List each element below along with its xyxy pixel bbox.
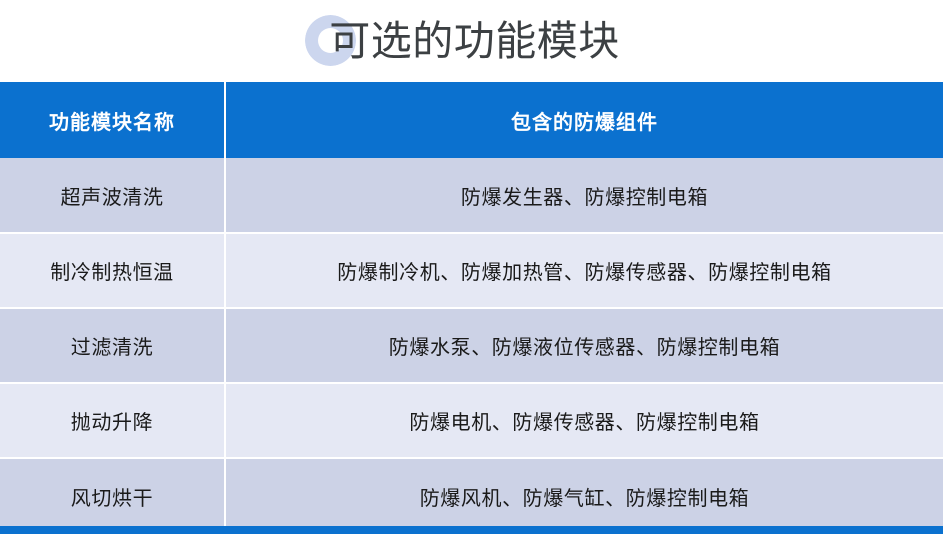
cell-components: 防爆风机、防爆气缸、防爆控制电箱 [225,458,943,533]
table-row: 抛动升降 防爆电机、防爆传感器、防爆控制电箱 [0,383,943,458]
table-row: 制冷制热恒温 防爆制冷机、防爆加热管、防爆传感器、防爆控制电箱 [0,233,943,308]
cell-components: 防爆水泵、防爆液位传感器、防爆控制电箱 [225,308,943,383]
cell-module-name: 制冷制热恒温 [0,233,225,308]
module-table: 功能模块名称 包含的防爆组件 超声波清洗 防爆发生器、防爆控制电箱 制冷制热恒温… [0,82,943,533]
table-header: 功能模块名称 包含的防爆组件 [0,82,943,158]
cell-module-name: 风切烘干 [0,458,225,533]
page-title: 可选的功能模块 [0,0,943,82]
table-row: 风切烘干 防爆风机、防爆气缸、防爆控制电箱 [0,458,943,533]
title-area: 可选的功能模块 [0,0,943,82]
table-header-row: 功能模块名称 包含的防爆组件 [0,82,943,158]
column-header-components: 包含的防爆组件 [225,82,943,158]
cell-components: 防爆制冷机、防爆加热管、防爆传感器、防爆控制电箱 [225,233,943,308]
table-body: 超声波清洗 防爆发生器、防爆控制电箱 制冷制热恒温 防爆制冷机、防爆加热管、防爆… [0,158,943,533]
table-row: 过滤清洗 防爆水泵、防爆液位传感器、防爆控制电箱 [0,308,943,383]
cell-components: 防爆发生器、防爆控制电箱 [225,158,943,233]
cell-components: 防爆电机、防爆传感器、防爆控制电箱 [225,383,943,458]
table-row: 超声波清洗 防爆发生器、防爆控制电箱 [0,158,943,233]
column-header-module-name: 功能模块名称 [0,82,225,158]
bottom-accent-bar [0,526,943,534]
cell-module-name: 超声波清洗 [0,158,225,233]
cell-module-name: 抛动升降 [0,383,225,458]
cell-module-name: 过滤清洗 [0,308,225,383]
